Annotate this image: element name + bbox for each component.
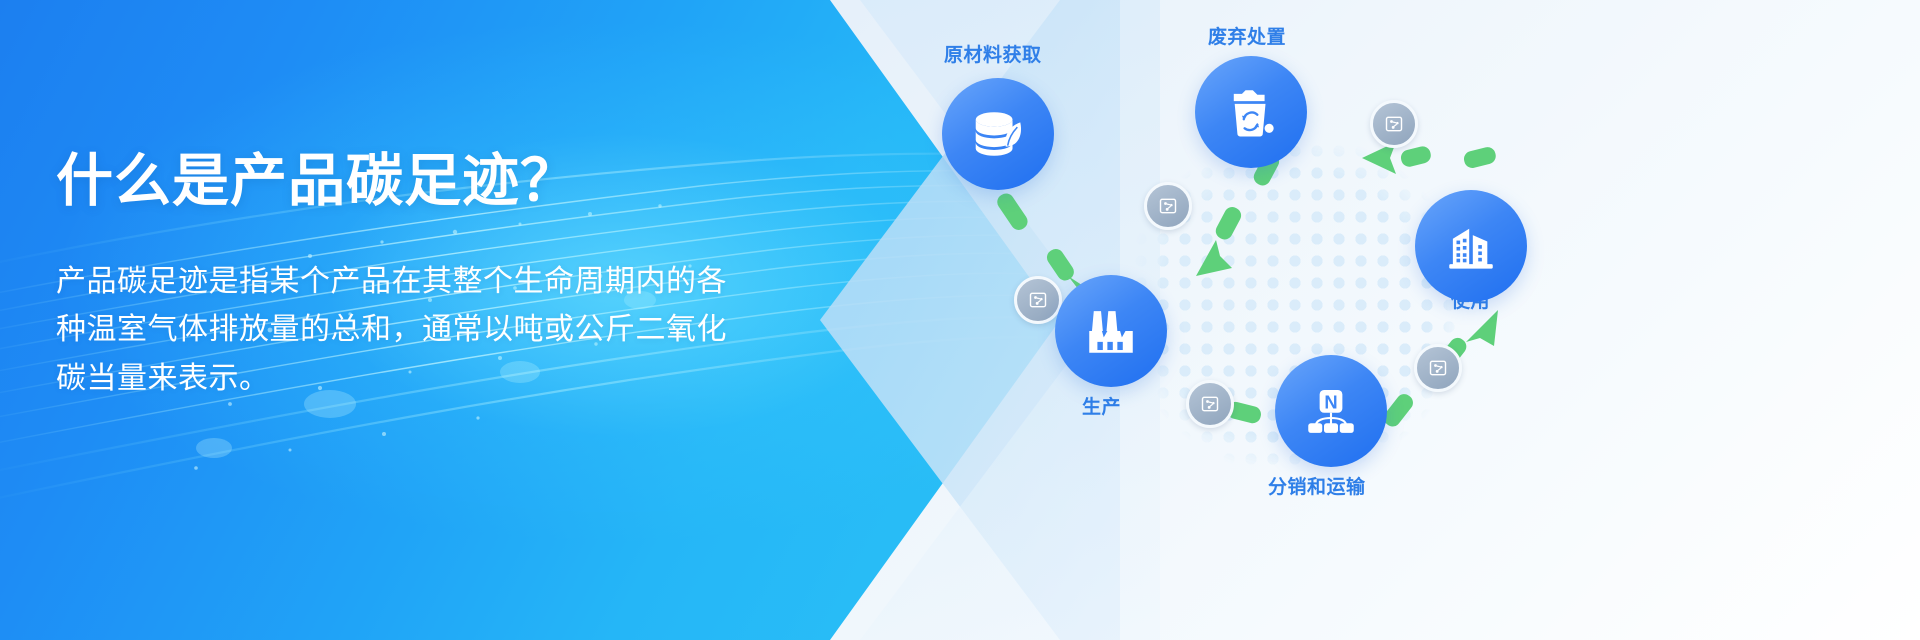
- copy-block: 什么是产品碳足迹？ 产品碳足迹是指某个产品在其整个生命周期内的各种温室气体排放量…: [56, 150, 816, 404]
- factory-icon: [1055, 275, 1167, 387]
- recycle-bin-icon: [1195, 56, 1307, 168]
- database-leaf-icon: [942, 78, 1054, 190]
- lifecycle-cycle-diagram: 原材料获取 废弃处置: [930, 0, 1920, 640]
- lifecycle-node-label-waste-disposal: 废弃处置: [1208, 22, 1286, 49]
- carbon-footprint-banner: 什么是产品碳足迹？ 产品碳足迹是指某个产品在其整个生命周期内的各种温室气体排放量…: [0, 0, 1920, 640]
- data-flow-icon-dist-use[interactable]: [1414, 344, 1462, 392]
- lifecycle-node-label-distribution: 分销和运输: [1268, 472, 1366, 499]
- data-flow-icon-use-waste[interactable]: [1370, 100, 1418, 148]
- building-icon: [1415, 190, 1527, 302]
- network-distribution-icon: N: [1275, 355, 1387, 467]
- data-flow-icon-prod-dist[interactable]: [1186, 380, 1234, 428]
- description-paragraph: 产品碳足迹是指某个产品在其整个生命周期内的各种温室气体排放量的总和，通常以吨或公…: [56, 258, 756, 404]
- svg-text:N: N: [1324, 391, 1337, 412]
- data-flow-icon-raw-prod[interactable]: [1014, 276, 1062, 324]
- data-flow-icon-waste-raw[interactable]: [1144, 182, 1192, 230]
- lifecycle-node-label-raw-material: 原材料获取: [944, 40, 1042, 67]
- page-title: 什么是产品碳足迹？: [56, 150, 816, 214]
- arrow-waste-to-raw: [1182, 148, 1312, 288]
- lifecycle-node-label-production: 生产: [1082, 392, 1121, 419]
